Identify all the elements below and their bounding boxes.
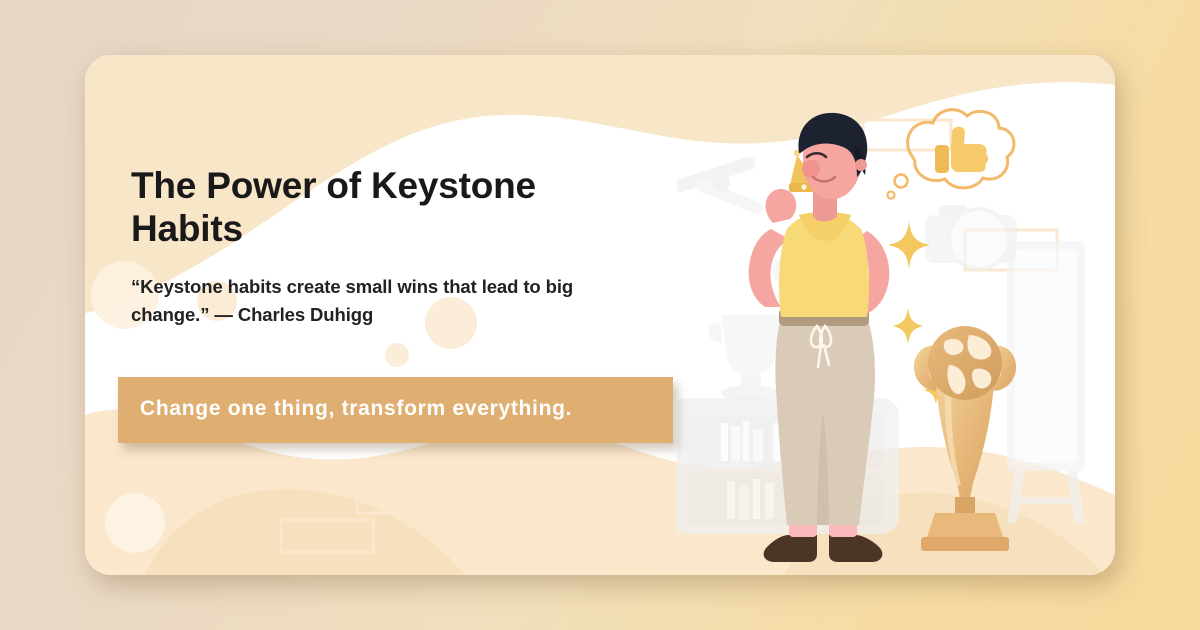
ear bbox=[855, 159, 867, 171]
shoe-right bbox=[829, 535, 882, 562]
globe bbox=[928, 326, 1002, 400]
banner-label: Change one thing, transform everything. bbox=[140, 394, 651, 424]
text-column: The Power of Keystone Habits “Keystone h… bbox=[131, 165, 711, 330]
cream-circle-5 bbox=[105, 493, 165, 553]
thumbs-up-thought-bubble bbox=[888, 110, 1014, 199]
trophy-stem bbox=[955, 497, 975, 513]
globe-trophy bbox=[914, 326, 1016, 551]
quote-card: The Power of Keystone Habits “Keystone h… bbox=[85, 55, 1115, 575]
page-title: The Power of Keystone Habits bbox=[131, 165, 601, 251]
cheek-blush bbox=[802, 160, 820, 178]
quote-text: “Keystone habits create small wins that … bbox=[131, 273, 651, 330]
achievement-illustration bbox=[677, 73, 1107, 573]
ghost-mirror bbox=[1007, 241, 1085, 523]
cream-circle-4 bbox=[385, 343, 409, 367]
trophy-base bbox=[927, 513, 1003, 537]
shoe-left bbox=[764, 535, 817, 562]
ghost-camera bbox=[925, 205, 1017, 269]
slide-canvas: The Power of Keystone Habits “Keystone h… bbox=[0, 0, 1200, 630]
highlight-banner: Change one thing, transform everything. bbox=[118, 377, 673, 443]
